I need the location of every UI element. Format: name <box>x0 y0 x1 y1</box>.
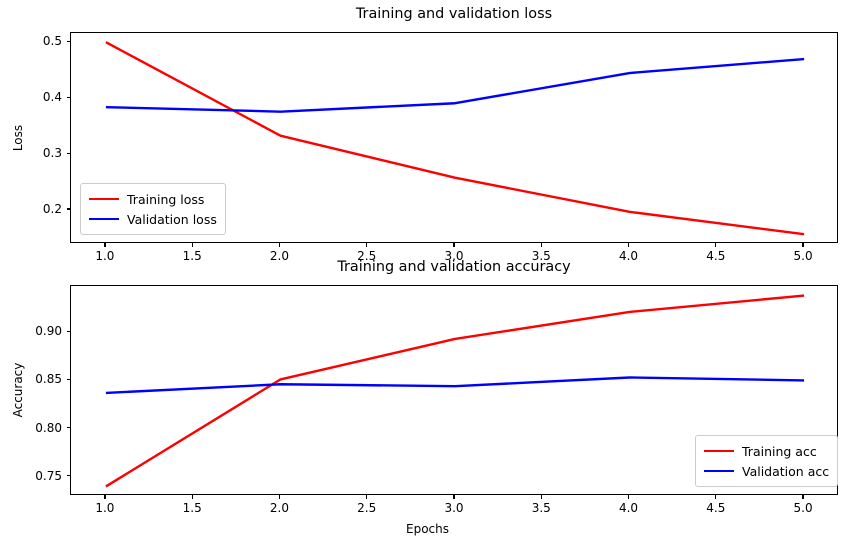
y-tick-mark <box>67 475 71 476</box>
x-tick-mark <box>279 495 280 499</box>
y-tick-mark <box>67 331 71 332</box>
x-tick-label: 3.5 <box>532 501 551 515</box>
y-tick-label: 0.2 <box>6 202 62 216</box>
y-tick-mark <box>67 208 71 209</box>
legend-swatch-training-loss <box>89 198 119 200</box>
y-tick-mark <box>67 41 71 42</box>
x-tick-mark <box>192 243 193 247</box>
y-tick-label: 0.75 <box>6 469 62 483</box>
x-tick-label: 1.0 <box>95 501 114 515</box>
x-tick-mark <box>802 243 803 247</box>
y-tick-label: 0.85 <box>6 372 62 386</box>
legend-swatch-validation-loss <box>89 218 119 220</box>
y-tick-mark <box>67 97 71 98</box>
x-tick-label: 5.0 <box>794 501 813 515</box>
matplotlib-figure: Training and validation loss Loss 1.01.5… <box>0 0 855 547</box>
legend-item: Training acc <box>704 441 829 461</box>
x-tick-mark <box>628 495 629 499</box>
x-tick-mark <box>279 243 280 247</box>
legend-item: Validation loss <box>89 209 217 229</box>
x-tick-mark <box>192 495 193 499</box>
x-tick-mark <box>628 243 629 247</box>
y-tick-mark <box>67 427 71 428</box>
accuracy-chart-ylabel: Accuracy <box>11 363 25 418</box>
loss-chart-legend[interactable]: Training loss Validation loss <box>80 183 226 235</box>
x-tick-mark <box>715 495 716 499</box>
x-tick-label: 1.5 <box>183 501 202 515</box>
x-tick-mark <box>802 495 803 499</box>
x-tick-mark <box>366 243 367 247</box>
legend-swatch-training-acc <box>704 450 734 452</box>
y-tick-mark <box>67 379 71 380</box>
x-tick-mark <box>541 495 542 499</box>
loss-chart-title: Training and validation loss <box>70 6 838 22</box>
x-tick-mark <box>104 495 105 499</box>
accuracy-chart-xlabel: Epochs <box>0 522 855 536</box>
x-tick-mark <box>104 243 105 247</box>
y-tick-label: 0.4 <box>6 90 62 104</box>
y-tick-label: 0.3 <box>6 146 62 160</box>
x-tick-label: 4.5 <box>706 501 725 515</box>
x-tick-label: 2.5 <box>357 501 376 515</box>
legend-item: Training loss <box>89 189 217 209</box>
x-tick-label: 4.0 <box>619 501 638 515</box>
legend-label-training-acc: Training acc <box>742 444 817 459</box>
series-line <box>106 378 804 393</box>
legend-label-validation-acc: Validation acc <box>742 464 829 479</box>
y-tick-label: 0.5 <box>6 34 62 48</box>
legend-swatch-validation-acc <box>704 470 734 472</box>
x-tick-mark <box>453 243 454 247</box>
accuracy-chart-title: Training and validation accuracy <box>70 259 838 275</box>
y-tick-label: 0.90 <box>6 324 62 338</box>
legend-item: Validation acc <box>704 461 829 481</box>
accuracy-chart-legend[interactable]: Training acc Validation acc <box>695 435 838 487</box>
legend-label-validation-loss: Validation loss <box>127 212 217 227</box>
x-tick-mark <box>453 495 454 499</box>
y-tick-label: 0.80 <box>6 421 62 435</box>
x-tick-mark <box>715 243 716 247</box>
x-tick-mark <box>366 495 367 499</box>
y-tick-mark <box>67 153 71 154</box>
legend-label-training-loss: Training loss <box>127 192 204 207</box>
x-tick-mark <box>541 243 542 247</box>
x-tick-label: 2.0 <box>270 501 289 515</box>
x-tick-label: 3.0 <box>444 501 463 515</box>
series-line <box>106 59 804 112</box>
